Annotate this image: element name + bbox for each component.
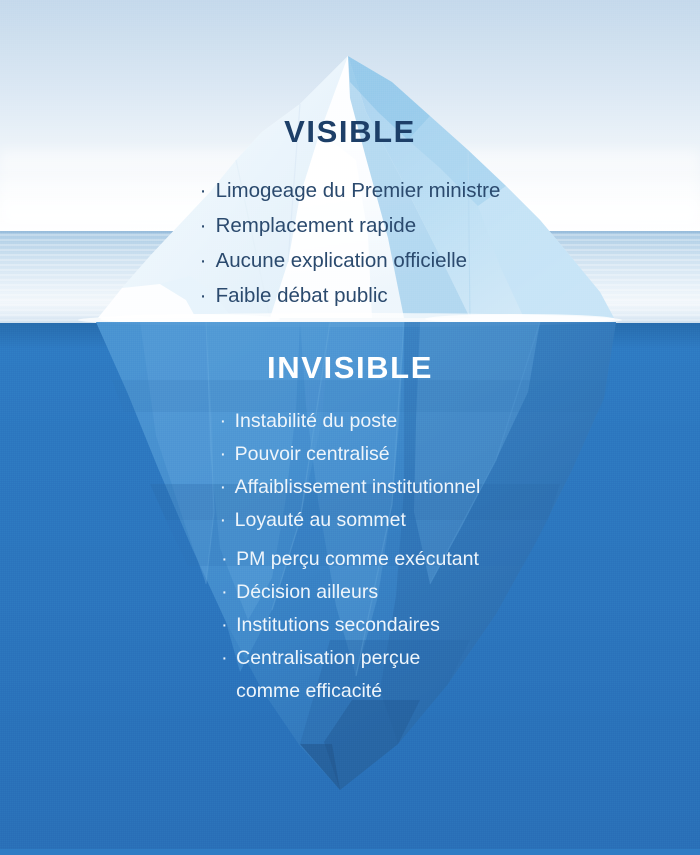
iceberg-infographic: VISIBLE ·Limogeage du Premier ministre ·… [0, 0, 700, 855]
bullet-icon: · [200, 208, 207, 243]
invisible-section-title: INVISIBLE [0, 352, 700, 383]
list-item: ·Instabilité du poste [220, 405, 481, 438]
list-item: ·Remplacement rapide [200, 208, 501, 243]
bullet-icon: · [221, 576, 228, 609]
list-item: ·PM perçu comme exécutant [221, 543, 479, 576]
visible-bullet-list: ·Limogeage du Premier ministre ·Remplace… [200, 173, 501, 313]
list-item-label: PM perçu comme exécutant [236, 548, 479, 570]
invisible-bullet-list-group-two: ·PM perçu comme exécutant ·Décision aill… [221, 543, 479, 708]
visible-section: VISIBLE ·Limogeage du Premier ministre ·… [0, 116, 700, 313]
list-item-label: Instabilité du poste [235, 410, 398, 432]
list-item-label: Centralisation perçue [236, 647, 420, 669]
list-item: ·Institutions secondaires [221, 609, 479, 642]
list-item: ·Limogeage du Premier ministre [200, 173, 501, 208]
bullet-icon: · [220, 504, 227, 537]
bullet-icon: · [221, 642, 228, 675]
invisible-section-group-two: ·PM perçu comme exécutant ·Décision aill… [0, 543, 700, 708]
list-item: ·Centralisation perçuecomme efficacité [221, 642, 479, 708]
invisible-section: INVISIBLE ·Instabilité du poste ·Pouvoir… [0, 352, 700, 537]
bullet-icon: · [200, 278, 207, 313]
bullet-icon: · [220, 438, 227, 471]
bottom-edge [0, 849, 700, 855]
bullet-icon: · [220, 471, 227, 504]
bullet-icon: · [200, 173, 207, 208]
bullet-icon: · [221, 543, 228, 576]
invisible-bullet-list-group-one: ·Instabilité du poste ·Pouvoir centralis… [220, 405, 481, 537]
list-item: ·Pouvoir centralisé [220, 438, 481, 471]
list-item-label: Limogeage du Premier ministre [216, 179, 501, 202]
list-item-label: Institutions secondaires [236, 614, 440, 636]
list-item-label: Remplacement rapide [216, 214, 417, 237]
list-item-label: Décision ailleurs [236, 581, 378, 603]
bullet-icon: · [221, 609, 228, 642]
list-item-label: Affaiblissement institutionnel [235, 476, 481, 498]
list-item-label: Faible débat public [216, 284, 388, 307]
bullet-icon: · [220, 405, 227, 438]
visible-section-title: VISIBLE [0, 116, 700, 147]
list-item: ·Affaiblissement institutionnel [220, 471, 481, 504]
list-item: ·Décision ailleurs [221, 576, 479, 609]
list-item-label: Aucune explication officielle [216, 249, 467, 272]
list-item: ·Faible débat public [200, 278, 501, 313]
list-item-label-continuation: comme efficacité [236, 675, 479, 708]
list-item-label: Pouvoir centralisé [235, 443, 390, 465]
bullet-icon: · [200, 243, 207, 278]
list-item: ·Loyauté au sommet [220, 504, 481, 537]
list-item: ·Aucune explication officielle [200, 243, 501, 278]
list-item-label: Loyauté au sommet [235, 509, 406, 531]
